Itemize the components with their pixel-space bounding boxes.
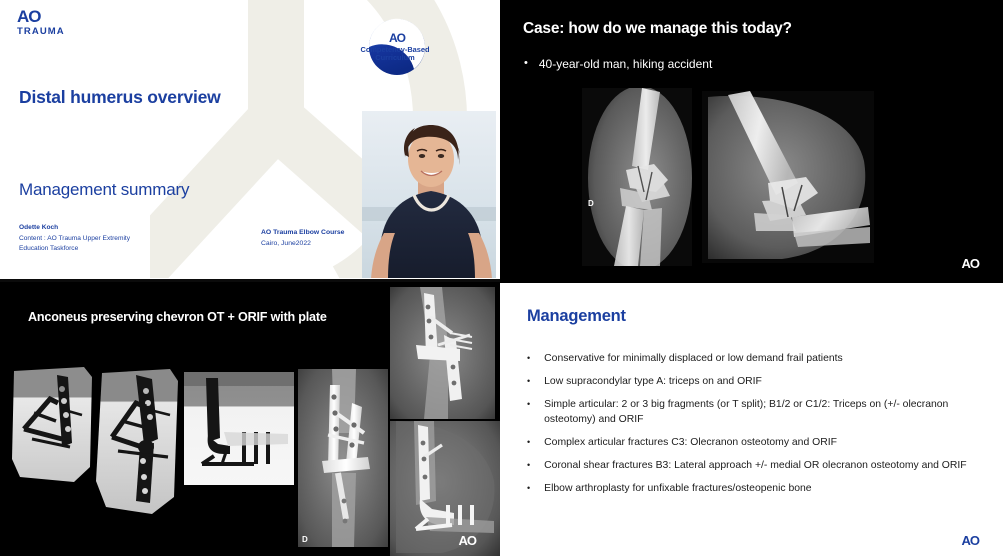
- list-item-text: Coronal shear fractures B3: Lateral appr…: [544, 458, 973, 473]
- ao-mark-icon: AO: [17, 8, 65, 25]
- intraop-fluoro-3: [184, 372, 294, 485]
- bullet-marker-icon: •: [524, 57, 528, 71]
- slide-case-how-do-we-manage[interactable]: Case: how do we manage this today? • 40-…: [500, 0, 1003, 279]
- slide-heading: Distal humerus overview: [19, 87, 221, 108]
- ao-trauma-logo: AO TRAUMA: [17, 8, 65, 37]
- laterality-marker-d: D: [302, 535, 308, 544]
- bullet-marker-icon: •: [527, 458, 530, 473]
- list-item: • Elbow arthroplasty for unfixable fract…: [527, 481, 973, 496]
- course-name: AO Trauma Elbow Course: [261, 227, 344, 238]
- slide-distal-humerus-overview[interactable]: AO TRAUMA AO Co: [0, 0, 500, 279]
- management-slide-title: Management: [527, 307, 626, 326]
- slide-canvas: AO TRAUMA AO Co: [0, 0, 496, 278]
- list-item: • Low supracondylar type A: triceps on a…: [527, 374, 973, 389]
- svg-text:AO: AO: [389, 31, 406, 45]
- ao-corner-logo: AO: [962, 256, 980, 271]
- postop-ap-xray: D: [298, 369, 388, 547]
- slide-anconeus-chevron-ot[interactable]: Anconeus preserving chevron OT + ORIF wi…: [0, 279, 500, 556]
- case-bullet-item: • 40-year-old man, hiking accident: [524, 57, 712, 71]
- case-xray-row: D: [582, 88, 874, 266]
- list-item-text: Low supracondylar type A: triceps on and…: [544, 374, 973, 389]
- course-location-date: Cairo, June2022: [261, 238, 344, 249]
- list-item-text: Complex articular fractures C3: Olecrano…: [544, 435, 973, 450]
- list-item-text: Simple articular: 2 or 3 big fragments (…: [544, 397, 973, 427]
- bullet-marker-icon: •: [527, 481, 530, 496]
- slide-top-rule: [0, 279, 500, 282]
- list-item-text: Conservative for minimally displaced or …: [544, 351, 973, 366]
- author-name: Odette Koch: [19, 223, 130, 233]
- elbow-lateral-xray: [702, 91, 874, 263]
- slide-management-summary[interactable]: Management • Conservative for minimally …: [500, 279, 1003, 556]
- intraop-fluoro-2: [96, 369, 178, 514]
- presenter-photo: [362, 111, 496, 278]
- laterality-marker-d: D: [588, 199, 594, 208]
- list-item: • Conservative for minimally displaced o…: [527, 351, 973, 366]
- ao-corner-logo: AO: [962, 533, 980, 548]
- ao-trauma-wordmark: TRAUMA: [17, 27, 65, 37]
- bullet-marker-icon: •: [527, 351, 530, 366]
- elbow-ap-xray: D: [582, 88, 692, 266]
- bullet-marker-icon: •: [527, 397, 530, 427]
- slide-subheading: Management summary: [19, 180, 189, 200]
- management-bullet-list: • Conservative for minimally displaced o…: [527, 351, 973, 505]
- competency-based-curriculum-badge: AO Competency-Based Curriculum: [360, 10, 434, 84]
- list-item: • Complex articular fractures C3: Olecra…: [527, 435, 973, 450]
- list-item: • Coronal shear fractures B3: Lateral ap…: [527, 458, 973, 473]
- ot-slide-title: Anconeus preserving chevron OT + ORIF wi…: [28, 310, 327, 324]
- case-bullet-text: 40-year-old man, hiking accident: [539, 57, 712, 71]
- postop-oblique-xray: [390, 287, 495, 419]
- badge-line-2: Curriculum: [375, 53, 415, 62]
- list-item-text: Elbow arthroplasty for unfixable fractur…: [544, 481, 973, 496]
- case-slide-title: Case: how do we manage this today?: [523, 20, 792, 38]
- bullet-marker-icon: •: [527, 374, 530, 389]
- author-affiliation-line-1: Content : AO Trauma Upper Extremity: [19, 234, 130, 244]
- intraop-fluoro-1: [12, 367, 92, 482]
- bullet-marker-icon: •: [527, 435, 530, 450]
- postop-lateral-xray: [390, 421, 500, 556]
- course-block: AO Trauma Elbow Course Cairo, June2022: [261, 227, 344, 249]
- author-block: Odette Koch Content : AO Trauma Upper Ex…: [19, 223, 130, 254]
- ao-corner-logo: AO: [459, 533, 477, 548]
- slide-top-rule: [500, 279, 1003, 283]
- author-affiliation-line-2: Education Taskforce: [19, 244, 130, 254]
- slide-deck-grid: AO TRAUMA AO Co: [0, 0, 1003, 556]
- list-item: • Simple articular: 2 or 3 big fragments…: [527, 397, 973, 427]
